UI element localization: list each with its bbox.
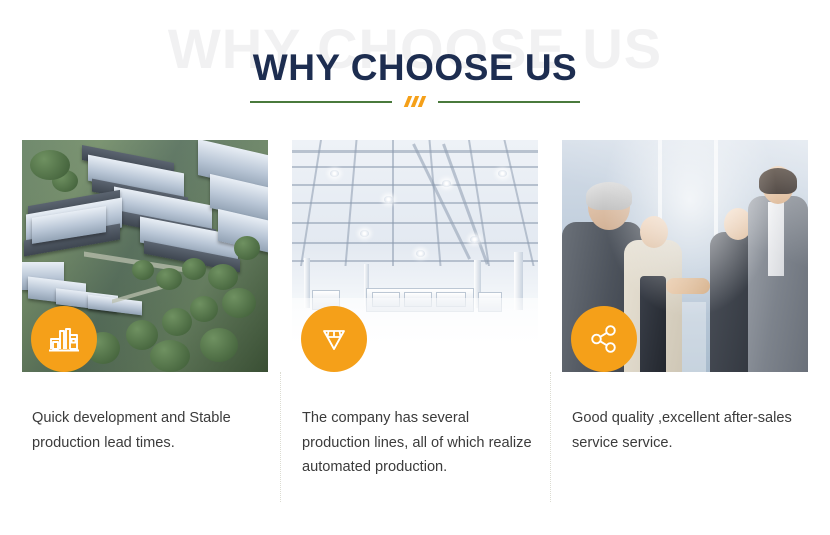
diamond-icon (317, 322, 351, 356)
feature-card[interactable]: The company has several production lines… (292, 140, 538, 480)
title-divider (0, 96, 830, 107)
feature-card[interactable]: Quick development and Stable production … (22, 140, 268, 480)
divider-line-left (250, 101, 392, 103)
feature-card-list: Quick development and Stable production … (22, 140, 808, 480)
column-separator (550, 372, 551, 502)
page-title: WHY CHOOSE US (0, 47, 830, 89)
card-image-factory-interior (292, 140, 538, 372)
card-description: Quick development and Stable production … (22, 406, 268, 455)
card-icon-badge[interactable] (571, 306, 637, 372)
divider-line-right (438, 101, 580, 103)
share-network-icon (587, 322, 621, 356)
section-header: WHY CHOOSE US WHY CHOOSE US (0, 0, 830, 130)
divider-mark-icon (418, 96, 426, 107)
divider-marks (406, 96, 424, 107)
factory-icon (47, 322, 81, 356)
card-image-industrial-park (22, 140, 268, 372)
card-image-business-handshake (562, 140, 808, 372)
card-icon-badge[interactable] (31, 306, 97, 372)
why-choose-us-section: WHY CHOOSE US WHY CHOOSE US (0, 0, 830, 535)
card-description: Good quality ,excellent after-sales serv… (562, 406, 808, 455)
feature-card[interactable]: Good quality ,excellent after-sales serv… (562, 140, 808, 480)
card-icon-badge[interactable] (301, 306, 367, 372)
column-separator (280, 372, 281, 502)
card-description: The company has several production lines… (292, 406, 538, 480)
